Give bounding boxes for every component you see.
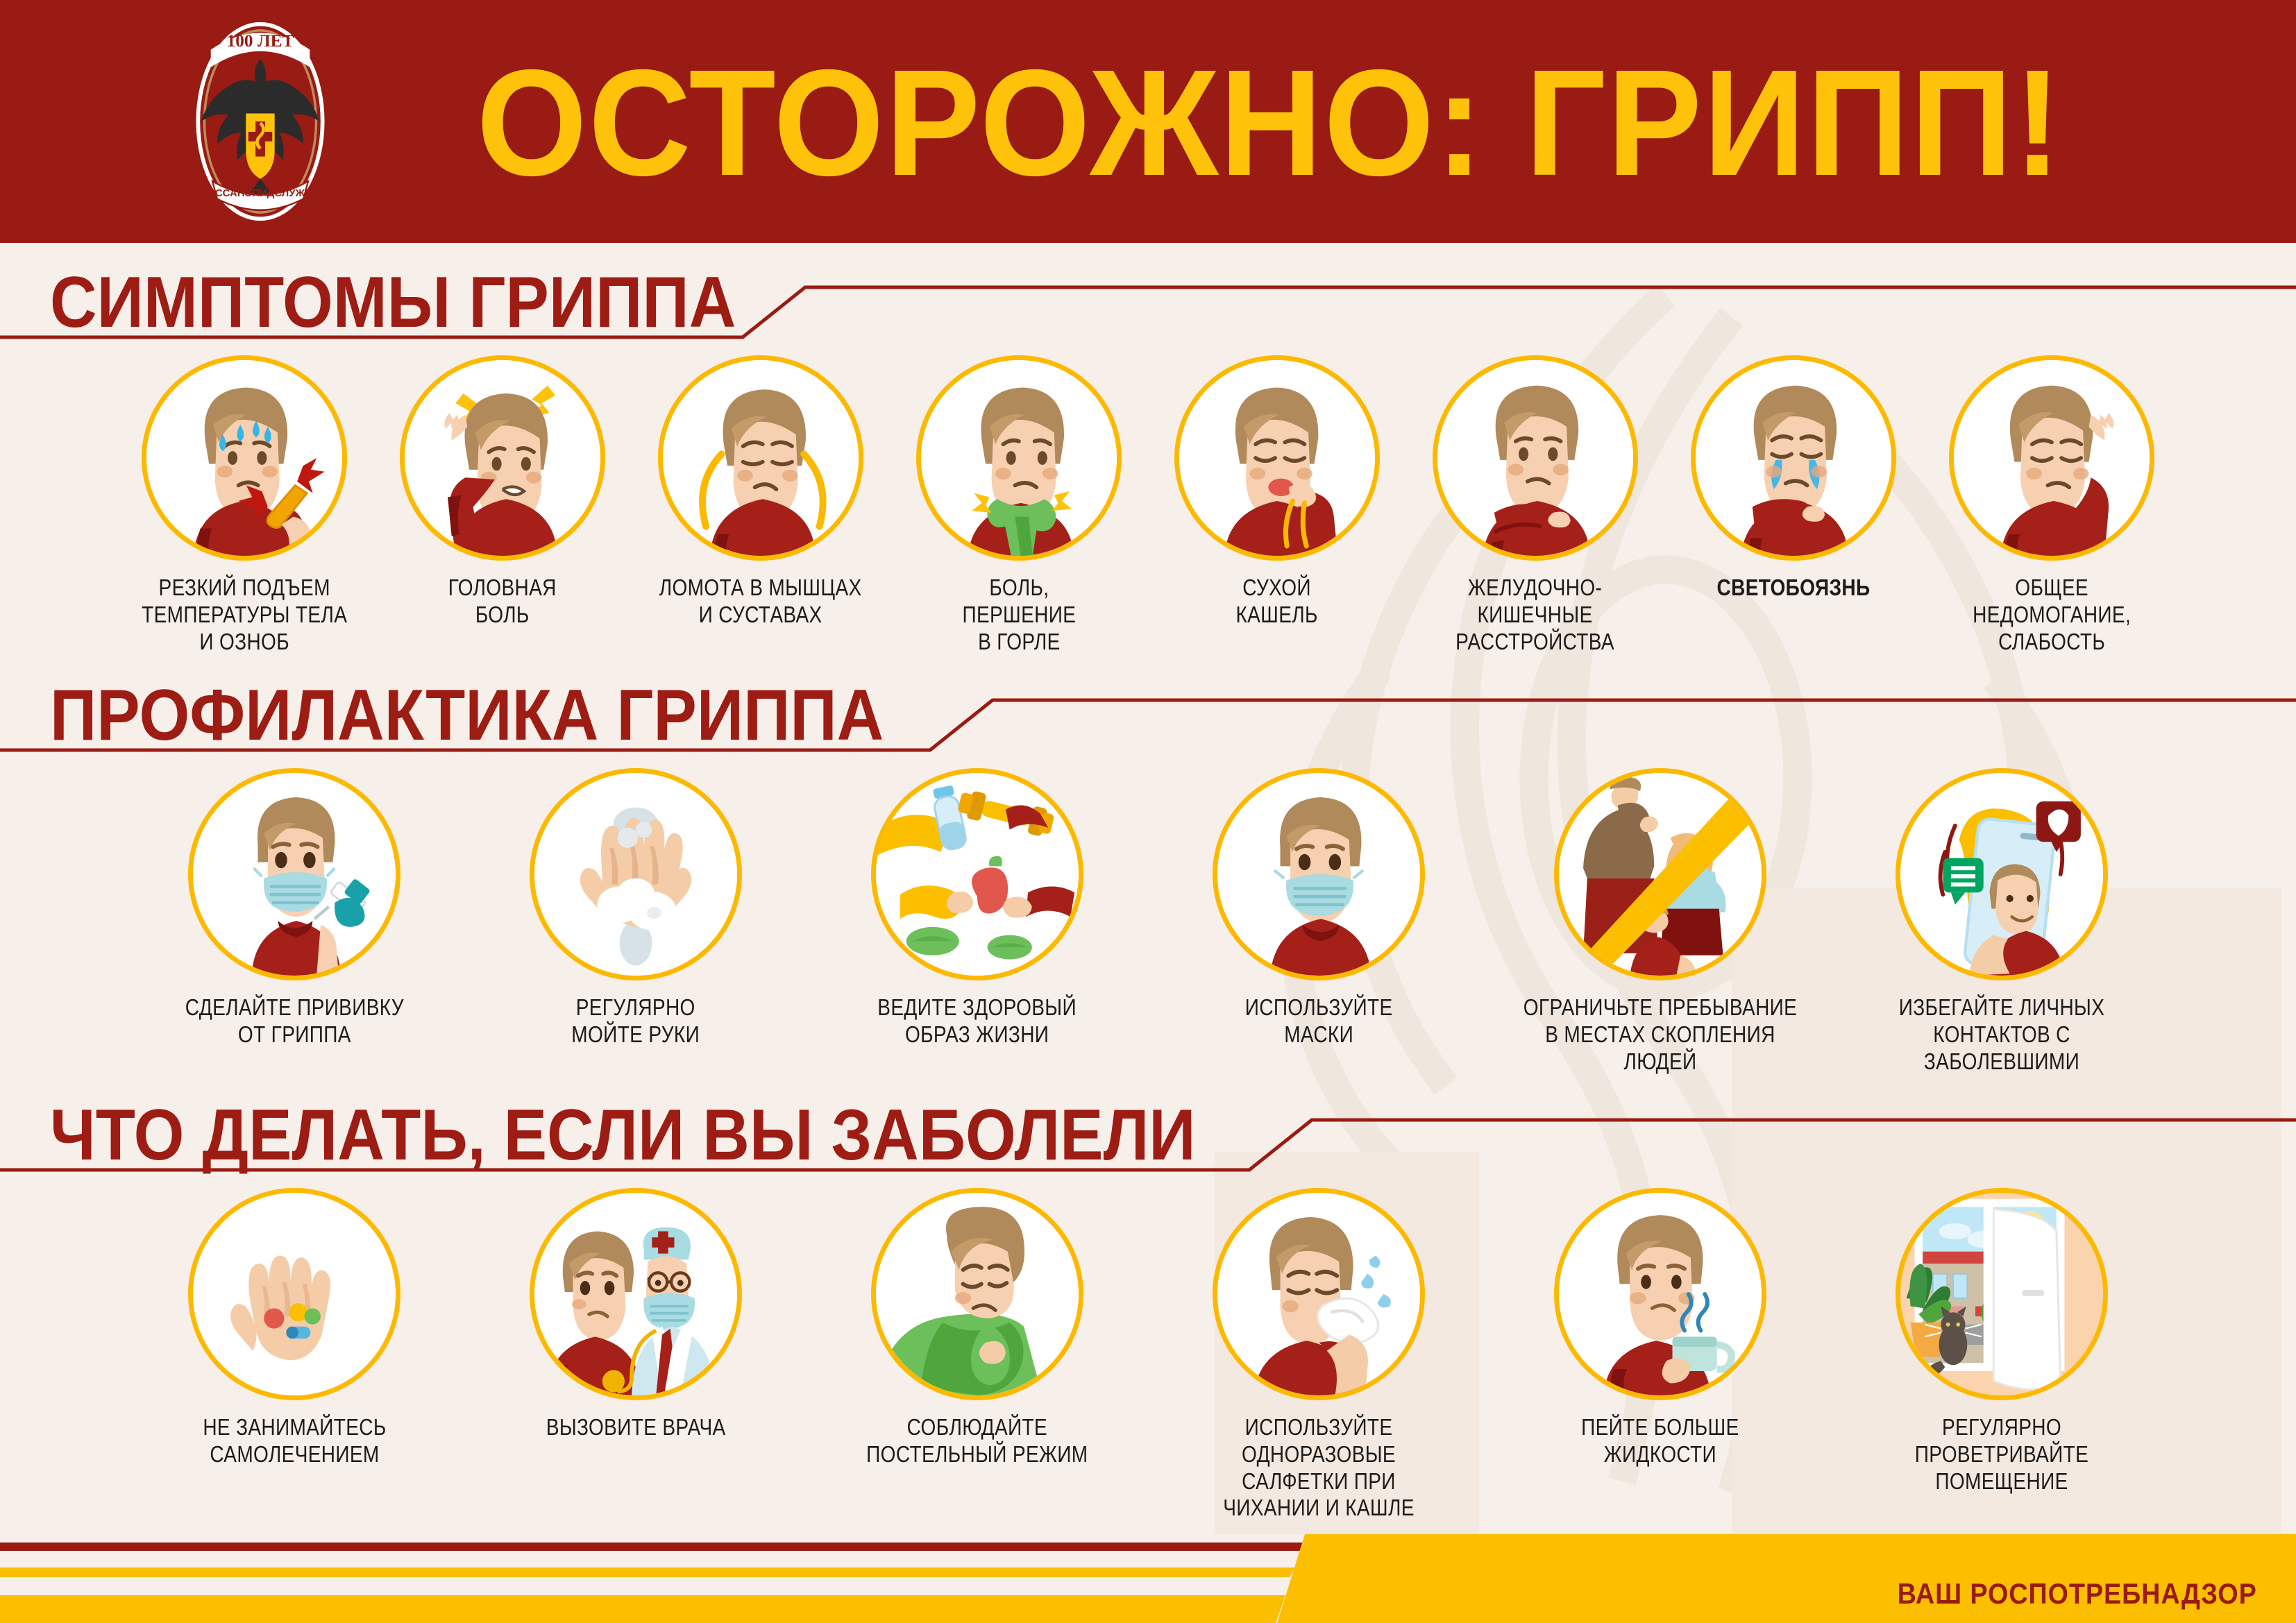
section-heading-symptoms: СИМПТОМЫ ГРИППА <box>0 255 2296 344</box>
prevention-label: СДЕЛАЙТЕ ПРИВИВКУОТ ГРИППА <box>185 994 403 1048</box>
prevention-label: РЕГУЛЯРНОМОЙТЕ РУКИ <box>572 994 700 1048</box>
symptom-label: ЛОМОТА В МЫШЦАХИ СУСТАВАХ <box>659 575 862 629</box>
symptom-item[interactable]: ЛОМОТА В МЫШЦАХИ СУСТАВАХ <box>632 355 890 629</box>
heading-text: ЧТО ДЕЛАТЬ, ЕСЛИ ВЫ ЗАБОЛЕЛИ <box>50 1099 1196 1171</box>
prevention-item[interactable]: РЕГУЛЯРНОМОЙТЕ РУКИ <box>465 768 807 1048</box>
symptom-label: БОЛЬ,ПЕРШЕНИЕВ ГОРЛЕ <box>962 575 1076 656</box>
section-heading-if-ill: ЧТО ДЕЛАТЬ, ЕСЛИ ВЫ ЗАБОЛЕЛИ <box>0 1088 2296 1177</box>
symptom-item[interactable]: СВЕТОБОЯЗНЬ <box>1664 355 1923 602</box>
stomach-upset-icon <box>1433 355 1638 561</box>
headache-icon <box>400 355 605 561</box>
if-ill-label: ВЫЗОВИТЕ ВРАЧА <box>546 1414 726 1441</box>
healthy-lifestyle-icon <box>871 768 1083 980</box>
if-ill-item[interactable]: РЕГУЛЯРНОПРОВЕТРИВАЙТЕ ПОМЕЩЕНИЕ <box>1831 1188 2172 1495</box>
symptom-label: СВЕТОБОЯЗНЬ <box>1716 575 1870 602</box>
if-ill-label: ИСПОЛЬЗУЙТЕ ОДНОРАЗОВЫЕСАЛФЕТКИ ПРИЧИХАН… <box>1174 1414 1464 1522</box>
if-ill-label: ПЕЙТЕ БОЛЬШЕЖИДКОСТИ <box>1581 1414 1739 1468</box>
prevention-item[interactable]: ВЕДИТЕ ЗДОРОВЫЙОБРАЗ ЖИЗНИ <box>807 768 1148 1048</box>
prevention-label: ИСПОЛЬЗУЙТЕМАСКИ <box>1245 994 1393 1048</box>
if-ill-item[interactable]: ПЕЙТЕ БОЛЬШЕЖИДКОСТИ <box>1489 1188 1831 1468</box>
symptom-label: ГОЛОВНАЯБОЛЬ <box>448 575 557 629</box>
prevention-item[interactable]: ОГРАНИЧЬТЕ ПРЕБЫВАНИЕВ МЕСТАХ СКОПЛЕНИЯ … <box>1489 768 1831 1076</box>
symptom-item[interactable]: СУХОЙКАШЕЛЬ <box>1148 355 1406 629</box>
symptom-label: РЕЗКИЙ ПОДЪЕМТЕМПЕРАТУРЫ ТЕЛАИ ОЗНОБ <box>142 575 347 656</box>
dry-cough-icon <box>1174 355 1380 561</box>
symptom-item[interactable]: БОЛЬ,ПЕРШЕНИЕВ ГОРЛЕ <box>890 355 1148 656</box>
use-tissues-icon <box>1213 1188 1425 1400</box>
symptom-label: ЖЕЛУДОЧНО-КИШЕЧНЫЕРАССТРОЙСТВА <box>1456 575 1615 656</box>
symptoms-row: РЕЗКИЙ ПОДЪЕМТЕМПЕРАТУРЫ ТЕЛАИ ОЗНОБ <box>0 355 2296 656</box>
general-weakness-icon <box>1949 355 2154 561</box>
if-ill-item[interactable]: ИСПОЛЬЗУЙТЕ ОДНОРАЗОВЫЕСАЛФЕТКИ ПРИЧИХАН… <box>1148 1188 1489 1522</box>
if-ill-label: РЕГУЛЯРНОПРОВЕТРИВАЙТЕ ПОМЕЩЕНИЕ <box>1857 1414 2147 1495</box>
avoid-crowds-icon <box>1554 768 1766 980</box>
symptom-item[interactable]: ГОЛОВНАЯБОЛЬ <box>373 355 632 629</box>
avoid-contact-phone-icon <box>1896 768 2108 980</box>
drink-fluids-icon <box>1554 1188 1766 1400</box>
wash-hands-icon <box>530 768 742 980</box>
prevention-item[interactable]: ИСПОЛЬЗУЙТЕМАСКИ <box>1148 768 1489 1048</box>
heading-text: СИМПТОМЫ ГРИППА <box>50 266 736 339</box>
symptom-label: ОБЩЕЕНЕДОМОГАНИЕ,СЛАБОСТЬ <box>1973 575 2131 656</box>
photophobia-icon <box>1691 355 1896 561</box>
heading-text: ПРОФИЛАКТИКА ГРИППА <box>50 679 884 751</box>
if-ill-item[interactable]: НЕ ЗАНИМАЙТЕСЬСАМОЛЕЧЕНИЕМ <box>124 1188 465 1468</box>
poster-body: СИМПТОМЫ ГРИППА <box>0 255 2296 1522</box>
symptom-item[interactable]: РЕЗКИЙ ПОДЪЕМТЕМПЕРАТУРЫ ТЕЛАИ ОЗНОБ <box>115 355 373 656</box>
prevention-label: ВЕДИТЕ ЗДОРОВЫЙОБРАЗ ЖИЗНИ <box>878 994 1077 1048</box>
prevention-item[interactable]: ИЗБЕГАЙТЕ ЛИЧНЫХКОНТАКТОВ С ЗАБОЛЕВШИМИ <box>1831 768 2172 1076</box>
svg-text:100 ЛЕТ: 100 ЛЕТ <box>227 31 294 51</box>
if-ill-item[interactable]: ВЫЗОВИТЕ ВРАЧА <box>465 1188 807 1441</box>
symptom-label: СУХОЙКАШЕЛЬ <box>1236 575 1318 629</box>
footer-label: ВАШ РОСПОТРЕБНАДЗОР <box>1898 1577 2257 1611</box>
symptom-item[interactable]: ОБЩЕЕНЕДОМОГАНИЕ,СЛАБОСТЬ <box>1923 355 2181 656</box>
no-self-medication-icon <box>188 1188 400 1400</box>
prevention-row: СДЕЛАЙТЕ ПРИВИВКУОТ ГРИППА <box>0 768 2296 1076</box>
section-heading-prevention: ПРОФИЛАКТИКА ГРИППА <box>0 668 2296 757</box>
bed-rest-icon <box>871 1188 1083 1400</box>
prevention-label: ОГРАНИЧЬТЕ ПРЕБЫВАНИЕВ МЕСТАХ СКОПЛЕНИЯ … <box>1515 994 1805 1076</box>
face-mask-icon <box>1213 768 1425 980</box>
poster-footer: ВАШ РОСПОТРЕБНАДЗОР <box>0 1534 2296 1623</box>
prevention-item[interactable]: СДЕЛАЙТЕ ПРИВИВКУОТ ГРИППА <box>124 768 465 1048</box>
fever-thermometer-icon <box>142 355 347 561</box>
symptom-item[interactable]: ЖЕЛУДОЧНО-КИШЕЧНЫЕРАССТРОЙСТВА <box>1406 355 1664 656</box>
if-ill-row: НЕ ЗАНИМАЙТЕСЬСАМОЛЕЧЕНИЕМ <box>0 1188 2296 1522</box>
muscle-joint-ache-icon <box>658 355 863 561</box>
prevention-label: ИЗБЕГАЙТЕ ЛИЧНЫХКОНТАКТОВ С ЗАБОЛЕВШИМИ <box>1857 994 2147 1076</box>
if-ill-label: СОБЛЮДАЙТЕПОСТЕЛЬНЫЙ РЕЖИМ <box>866 1414 1088 1468</box>
poster-header: 100 ЛЕТ ГОССАНЭПИДСЛУЖБА ОСТОРОЖНО: ГРИП… <box>0 0 2296 243</box>
sore-throat-icon <box>916 355 1122 561</box>
if-ill-item[interactable]: СОБЛЮДАЙТЕПОСТЕЛЬНЫЙ РЕЖИМ <box>807 1188 1148 1468</box>
rospotrebnadzor-emblem: 100 ЛЕТ ГОССАНЭПИДСЛУЖБА <box>174 7 347 236</box>
if-ill-label: НЕ ЗАНИМАЙТЕСЬСАМОЛЕЧЕНИЕМ <box>203 1414 386 1468</box>
call-doctor-icon <box>530 1188 742 1400</box>
svg-text:ГОССАНЭПИДСЛУЖБА: ГОССАНЭПИДСЛУЖБА <box>201 187 319 199</box>
page-title: ОСТОРОЖНО: ГРИПП! <box>403 48 2137 199</box>
ventilate-room-icon <box>1896 1188 2108 1400</box>
vaccination-icon <box>188 768 400 980</box>
